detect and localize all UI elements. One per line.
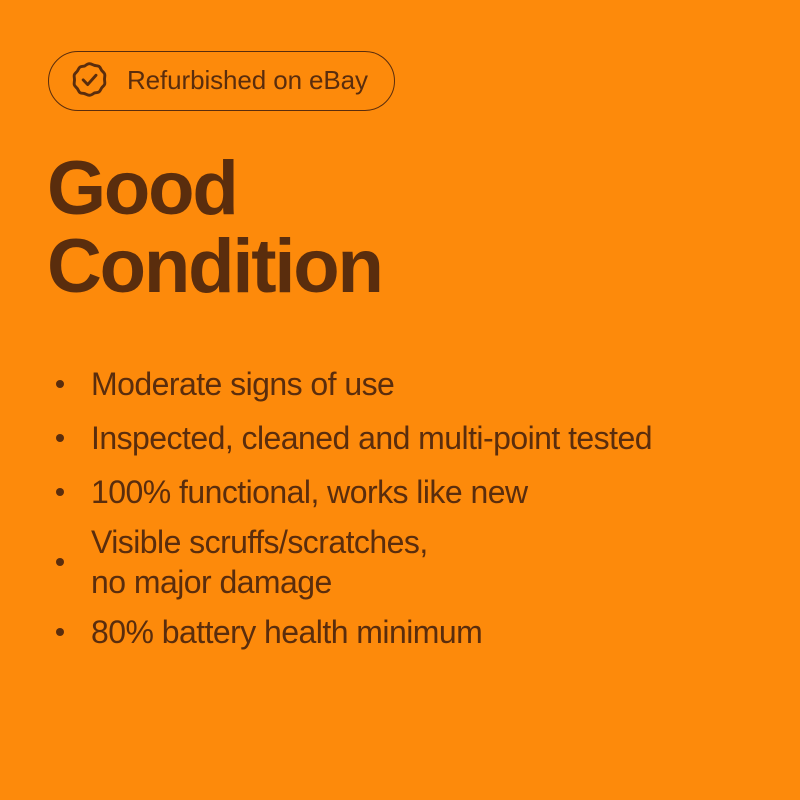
page-title-line-2: Condition — [47, 228, 382, 306]
verified-badge-check-icon — [69, 61, 110, 102]
refurbished-badge-label: Refurbished on eBay — [127, 67, 368, 93]
condition-feature-list: Moderate signs of use Inspected, cleaned… — [56, 357, 756, 659]
refurbished-badge[interactable]: Refurbished on eBay — [48, 51, 395, 111]
bullet-dot-icon — [56, 628, 64, 636]
list-item: Visible scruffs/scratches, no major dama… — [56, 519, 756, 605]
bullet-dot-icon — [56, 380, 64, 388]
bullet-dot-icon — [56, 488, 64, 496]
page-title-line-1: Good — [47, 150, 382, 228]
list-item: 80% battery health minimum — [56, 605, 756, 659]
list-item: Inspected, cleaned and multi-point teste… — [56, 411, 756, 465]
list-item: 100% functional, works like new — [56, 465, 756, 519]
list-item-label: Visible scruffs/scratches, no major dama… — [91, 522, 428, 602]
list-item: Moderate signs of use — [56, 357, 756, 411]
list-item-label: 100% functional, works like new — [91, 472, 528, 512]
list-item-label: 80% battery health minimum — [91, 612, 482, 652]
list-item-label: Inspected, cleaned and multi-point teste… — [91, 418, 652, 458]
list-item-label: Moderate signs of use — [91, 364, 394, 404]
bullet-dot-icon — [56, 434, 64, 442]
refurbished-condition-card: Refurbished on eBay Good Condition Moder… — [0, 0, 800, 800]
page-title: Good Condition — [47, 150, 382, 306]
bullet-dot-icon — [56, 558, 64, 566]
